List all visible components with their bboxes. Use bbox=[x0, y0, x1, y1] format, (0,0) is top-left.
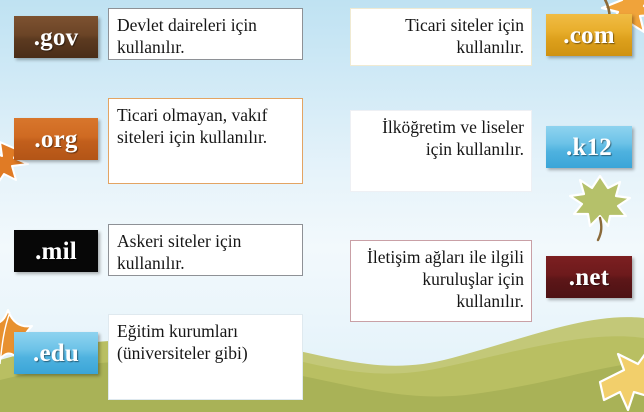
badge-gov-label: .gov bbox=[34, 25, 79, 50]
badge-net[interactable]: .net bbox=[546, 256, 632, 298]
badge-edu[interactable]: .edu bbox=[14, 332, 98, 374]
description-com: Ticari siteler için kullanılır. bbox=[350, 8, 532, 66]
badge-org[interactable]: .org bbox=[14, 118, 98, 160]
leaf-green-right-middle-icon bbox=[564, 168, 638, 242]
description-mil: Askeri siteler için kullanılır. bbox=[108, 224, 303, 276]
description-net: İletişim ağları ile ilgili kuruluşlar iç… bbox=[350, 240, 532, 322]
badge-k12[interactable]: .k12 bbox=[546, 126, 632, 168]
description-org: Ticari olmayan, vakıf siteleri için kull… bbox=[108, 98, 303, 184]
badge-net-label: .net bbox=[569, 265, 609, 290]
badge-com-label: .com bbox=[563, 23, 614, 48]
description-k12: İlköğretim ve liseler için kullanılır. bbox=[350, 110, 532, 192]
badge-org-label: .org bbox=[34, 127, 77, 152]
badge-mil-label: .mil bbox=[35, 239, 77, 264]
leaf-yellow-bottom-right-icon bbox=[576, 346, 644, 412]
badge-com[interactable]: .com bbox=[546, 14, 632, 56]
badge-edu-label: .edu bbox=[33, 341, 79, 366]
description-edu: Eğitim kurumları (üniversiteler gibi) bbox=[108, 314, 303, 400]
badge-gov[interactable]: .gov bbox=[14, 16, 98, 58]
description-gov: Devlet daireleri için kullanılır. bbox=[108, 8, 303, 60]
slide-canvas: .gov .org .mil .edu .com .k12 .net Devle… bbox=[0, 0, 644, 412]
badge-k12-label: .k12 bbox=[566, 135, 612, 160]
badge-mil[interactable]: .mil bbox=[14, 230, 98, 272]
